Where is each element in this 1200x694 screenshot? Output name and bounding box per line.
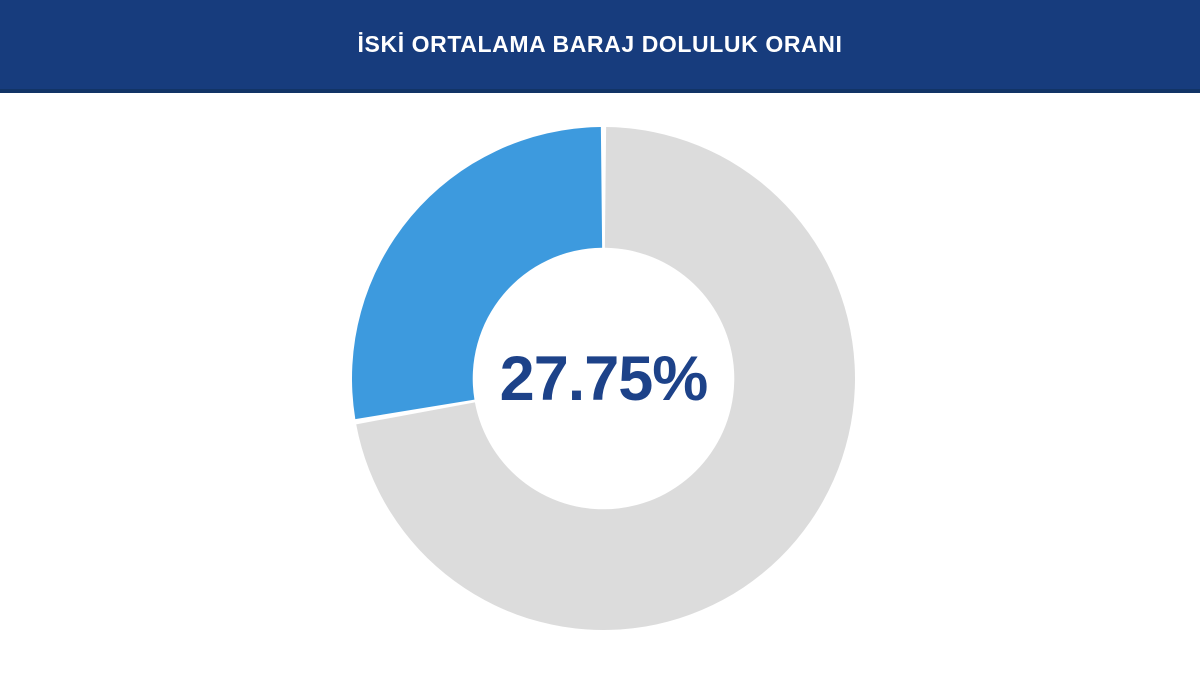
donut-slice-dolu [352,127,602,419]
page-title: İSKİ ORTALAMA BARAJ DOLULUK ORANI [0,0,1200,89]
donut-chart [352,127,855,630]
donut-slice-layer [352,127,855,630]
donut-chart-svg [352,127,855,630]
dam-occupancy-infographic: İSKİ ORTALAMA BARAJ DOLULUK ORANI 27.75% [0,0,1200,694]
chart-area: 27.75% [0,93,1200,694]
